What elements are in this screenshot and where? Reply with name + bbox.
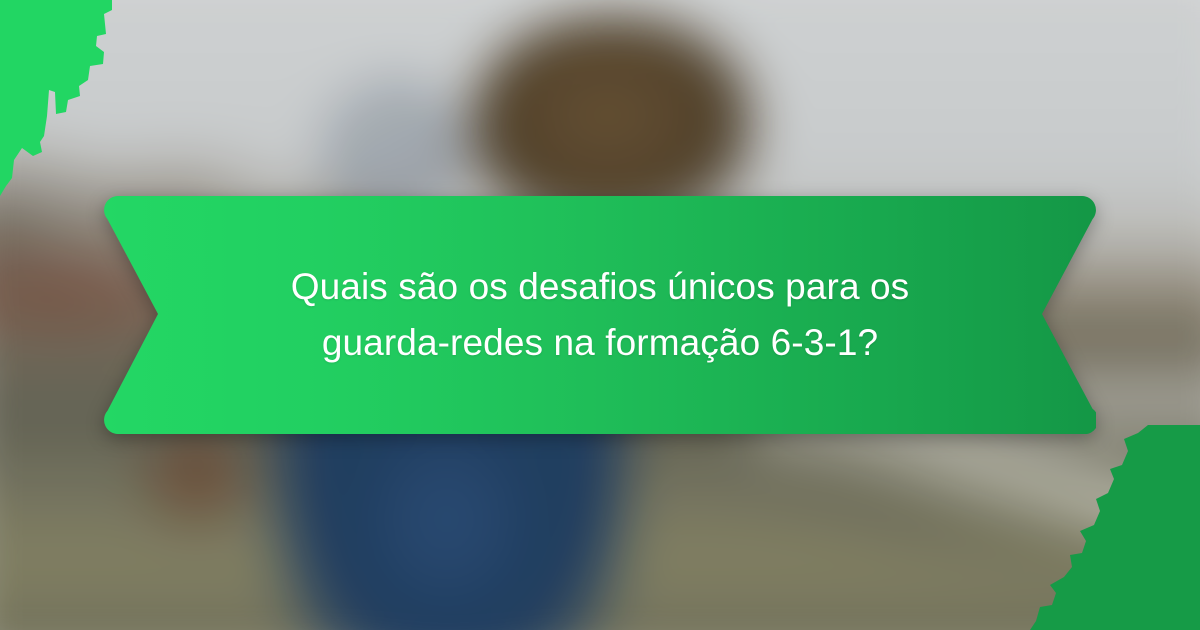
- torn-corner-shape-bottom-right: [1030, 425, 1200, 630]
- share-card: Quais são os desafios únicos para os gua…: [0, 0, 1200, 630]
- ribbon-shape: [104, 196, 1096, 434]
- ribbon-banner: Quais são os desafios únicos para os gua…: [104, 196, 1096, 434]
- ribbon-path: [104, 196, 1096, 434]
- torn-corner-shape-top-left: [0, 0, 112, 196]
- top-left-torn-corner: [0, 0, 190, 215]
- bottom-right-torn-corner: [1030, 425, 1200, 630]
